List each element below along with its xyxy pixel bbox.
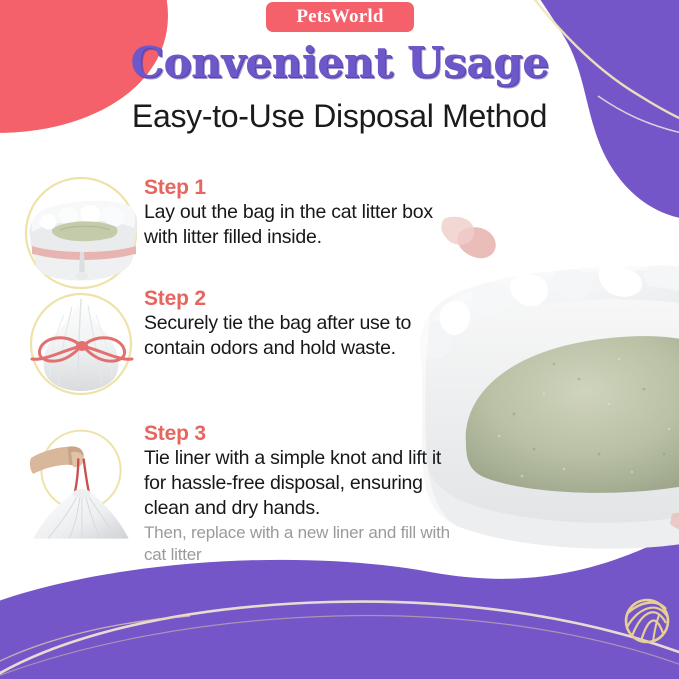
page-subtitle: Easy-to-Use Disposal Method: [0, 98, 679, 135]
tied-bag-with-ribbon-illustration-icon: [18, 281, 144, 407]
page-title: Convenient Usage: [0, 42, 679, 84]
step-3-text-block: Step 3 Tie liner with a simple knot and …: [144, 422, 464, 565]
step-2-label: Step 2: [144, 287, 464, 310]
petsworld-logo-text: PetsWorld: [296, 7, 383, 26]
litter-box-with-liner-illustration-icon: [18, 170, 144, 296]
step-1-text-block: Step 1 Lay out the bag in the cat litter…: [144, 176, 464, 250]
petsworld-logo-badge: PetsWorld: [266, 2, 414, 32]
step-2-body: Securely tie the bag after use to contai…: [144, 311, 464, 361]
step-2-text-block: Step 2 Securely tie the bag after use to…: [144, 287, 464, 361]
step-1-label: Step 1: [144, 176, 464, 199]
step-3-note: Then, replace with a new liner and fill …: [144, 522, 464, 566]
step-1-body: Lay out the bag in the cat litter box wi…: [144, 200, 464, 250]
infographic-canvas: Step 1 Lay out the bag in the cat litter…: [0, 0, 679, 679]
hand-lifting-tied-bag-illustration-icon: [18, 418, 144, 544]
step-3-label: Step 3: [144, 422, 464, 445]
step-3-body: Tie liner with a simple knot and lift it…: [144, 446, 464, 521]
